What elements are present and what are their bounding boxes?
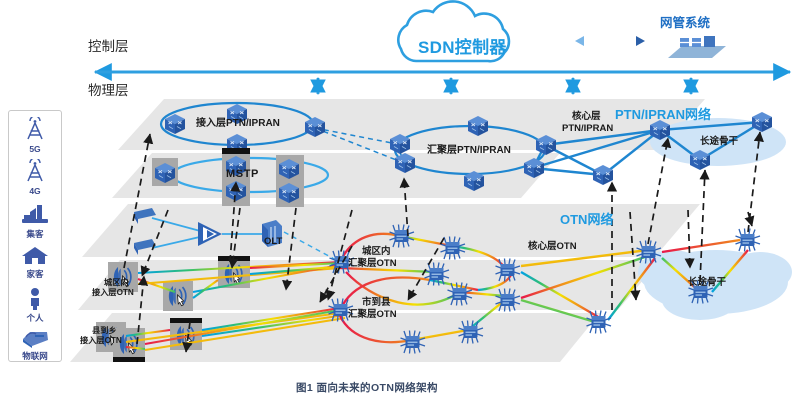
otn-access-urban-line2: 接入层OTN xyxy=(92,288,134,297)
physical-layer-label: 物理层 xyxy=(88,83,129,98)
antenna-tower-icon xyxy=(22,159,48,185)
otn-agg-city-line1: 市到县 xyxy=(362,298,391,309)
otn-agg-urban-line2: 汇聚层OTN xyxy=(348,259,397,270)
sidebar-item-5g[interactable]: 5G xyxy=(9,117,61,154)
sidebar-item-enterprise[interactable]: 集客 xyxy=(9,203,61,240)
sidebar-item-iot[interactable]: 物联网 xyxy=(9,327,61,362)
sidebar-item-individual[interactable]: 个人 xyxy=(9,287,61,324)
olt-label: OLT xyxy=(264,237,282,248)
ptn-aggregation-label: 汇聚层PTN/IPRAN xyxy=(427,145,511,156)
network-diagram-svg xyxy=(0,0,795,419)
otn-network-title: OTN网络 xyxy=(560,213,613,228)
sidebar-label-individual: 个人 xyxy=(9,312,61,324)
otn-access-county-line1: 县到乡 xyxy=(92,326,117,335)
sidebar-label-home: 家客 xyxy=(9,268,61,280)
control-layer-label: 控制层 xyxy=(88,39,129,54)
ptn-core-label-line2: PTN/IPRAN xyxy=(562,124,613,135)
ptn-access-label: 接入层PTN/IPRAN xyxy=(196,118,280,129)
figure-caption: 图1 面向未来的OTN网络架构 xyxy=(296,383,438,395)
sdn-nms-link-arrow xyxy=(575,36,645,46)
person-icon xyxy=(25,287,45,311)
ptn-core-label-line1: 核心层 xyxy=(572,112,601,123)
factory-icon xyxy=(21,203,49,227)
mstp-label: MSTP xyxy=(226,168,259,180)
sidebar-label-5g: 5G xyxy=(9,144,61,154)
sidebar-item-home[interactable]: 家客 xyxy=(9,245,61,280)
otn-access-county-line2: 接入层OTN xyxy=(80,336,122,345)
client-types-sidebar: 5G 4G 集客 家客 xyxy=(8,110,62,362)
otn-core-label: 核心层OTN xyxy=(528,242,577,253)
otn-access-urban-line1: 城区内 xyxy=(104,278,129,287)
ptn-backbone-label: 长途骨干 xyxy=(700,137,738,148)
sidebar-label-4g: 4G xyxy=(9,186,61,196)
otn-agg-city-line2: 汇聚层OTN xyxy=(348,310,397,321)
ptn-network-title: PTN/IPRAN网络 xyxy=(615,108,711,123)
sdn-controller-label: SDN控制器 xyxy=(418,38,507,57)
otn-backbone-label: 长途骨干 xyxy=(688,278,726,289)
house-icon xyxy=(21,245,49,267)
otn-agg-urban-line1: 城区内 xyxy=(362,247,391,258)
sidebar-label-enterprise: 集客 xyxy=(9,228,61,240)
iot-gateway-icon xyxy=(20,327,50,349)
antenna-tower-icon xyxy=(22,117,48,143)
diagram-canvas: 控制层 物理层 SDN控制器 网管系统 PTN/IPRAN网络 接入层PTN/I… xyxy=(0,0,795,419)
bus-downlink-arrows xyxy=(318,78,691,94)
sidebar-item-4g[interactable]: 4G xyxy=(9,159,61,196)
sidebar-label-iot: 物联网 xyxy=(9,350,61,362)
nms-label: 网管系统 xyxy=(660,16,710,30)
nms-server-icon xyxy=(668,36,726,58)
